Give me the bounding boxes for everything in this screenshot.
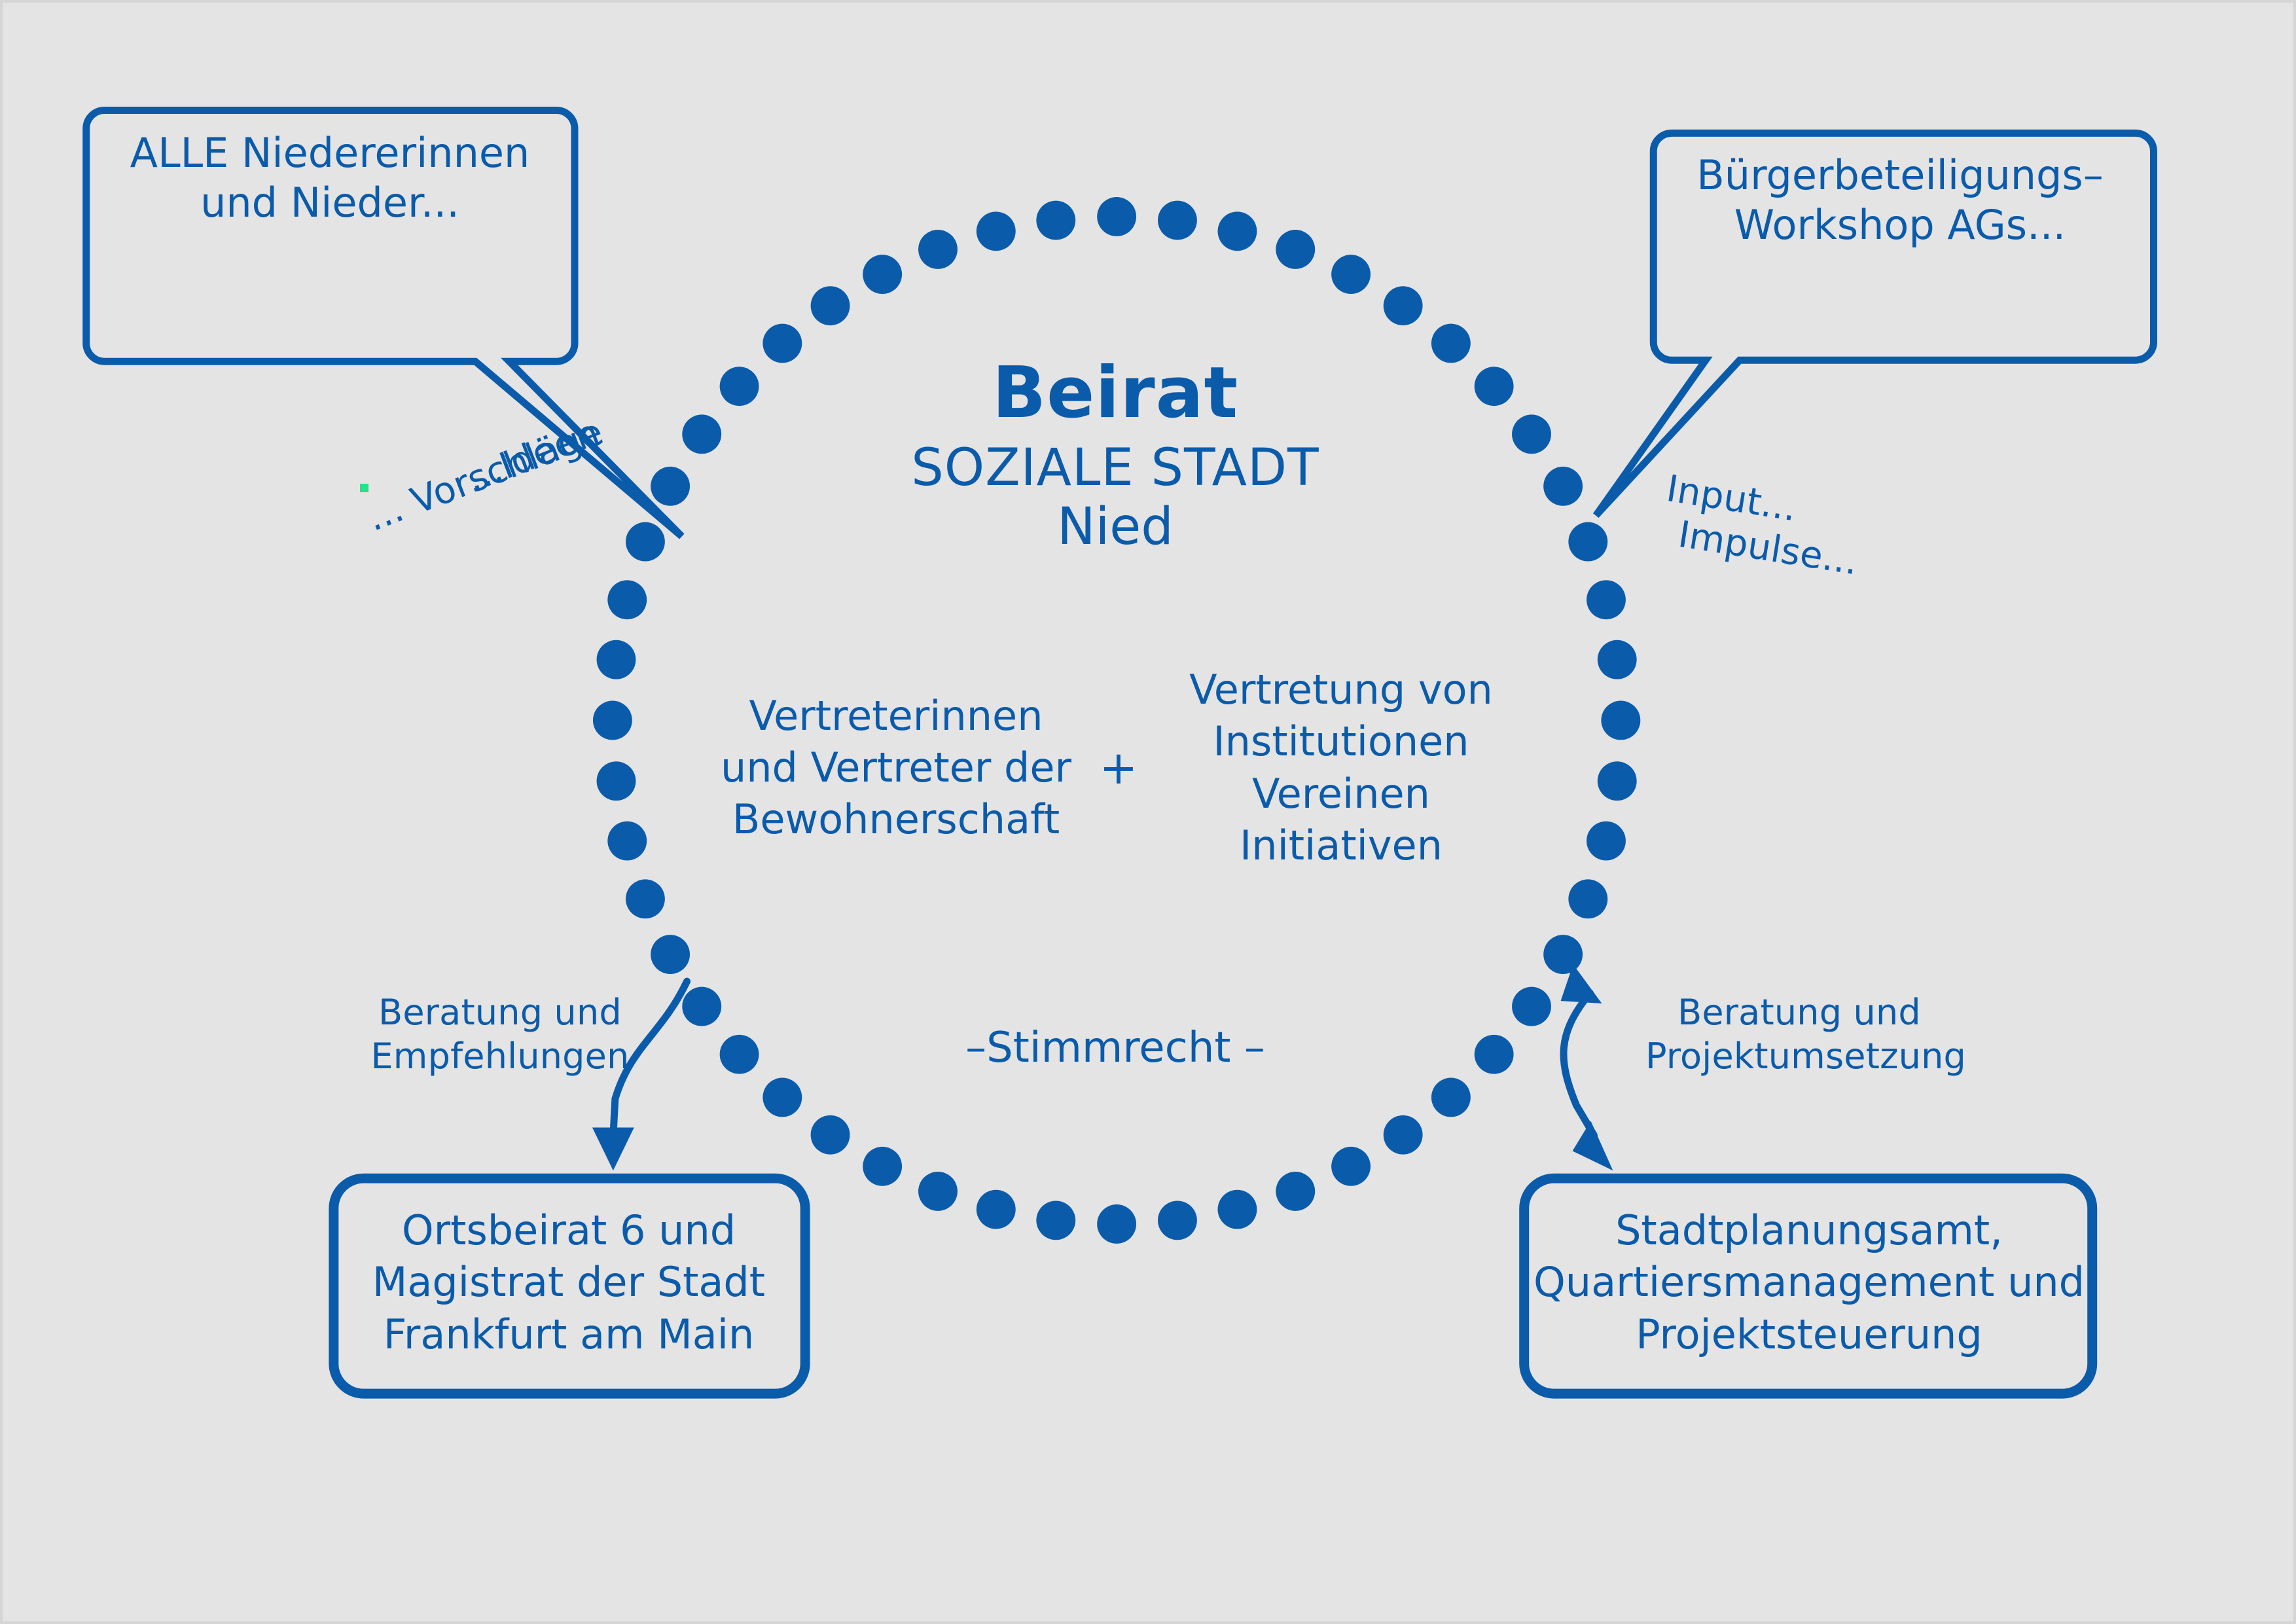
arrow-right-double (1561, 964, 1613, 1170)
ring-dot (762, 1078, 802, 1117)
box-bottom-left-label: Ortsbeirat 6 und Magistrat der Stadt Fra… (336, 1204, 801, 1360)
ring-dot (977, 211, 1016, 251)
title-beirat: Beirat (742, 356, 1488, 430)
ring-dot (1568, 522, 1607, 562)
bubble-top-left-label: ALLE Niedererinnen und Nieder... (88, 128, 572, 228)
box-bottom-right-label: Stadtplanungsamt, Quartiersmanagement un… (1515, 1204, 2104, 1360)
column-bewohnerschaft: Vertreterinnen und Vertreter der Bewohne… (719, 690, 1073, 846)
title-soziale-stadt: SOZIALE STADT (742, 441, 1488, 497)
ring-dot (1218, 1190, 1257, 1229)
ring-dot (1475, 1035, 1514, 1074)
ring-dot (626, 522, 665, 562)
ring-dot (863, 1147, 902, 1186)
ring-dot (682, 987, 721, 1026)
ring-dot (1598, 640, 1637, 679)
ring-dot (1512, 987, 1551, 1026)
ring-dot (1276, 1172, 1315, 1211)
circle-title-group: Beirat SOZIALE STADT Nied (742, 356, 1488, 557)
ring-dot (593, 701, 632, 740)
ring-dot (1587, 821, 1626, 861)
composition-columns: Vertreterinnen und Vertreter der Bewohne… (696, 664, 1541, 871)
ring-dot (1384, 1115, 1423, 1155)
title-nied: Nied (742, 497, 1488, 557)
ring-dot (1036, 201, 1075, 240)
diagram-canvas: ALLE Niedererinnen und Nieder... Bürgerb… (0, 0, 2296, 1624)
stimmrecht-note: –Stimmrecht – (840, 1024, 1390, 1072)
green-marker-dot (360, 484, 368, 492)
label-beratung-empfehlungen: Beratung und Empfehlungen (359, 991, 641, 1079)
ring-dot (1331, 1147, 1371, 1186)
bubble-top-right-label: Bürgerbeteiligungs– Workshop AGs... (1661, 151, 2139, 251)
ring-dot (1568, 879, 1607, 918)
ring-dot (1601, 701, 1640, 740)
ring-dot (607, 580, 647, 619)
ring-dot (1097, 197, 1136, 236)
ring-dot (1218, 211, 1257, 251)
ring-dot (1598, 761, 1637, 801)
plus-operator: + (1073, 745, 1164, 791)
ring-dot (1036, 1200, 1075, 1240)
ring-dot (918, 1172, 958, 1211)
ring-dot (1158, 1200, 1197, 1240)
ring-dot (811, 1115, 850, 1155)
ring-dot (811, 286, 850, 325)
ring-dot (1384, 286, 1423, 325)
ring-dot (651, 467, 690, 506)
ring-dot (1276, 230, 1315, 269)
ring-dot (1331, 255, 1371, 294)
ring-dot (1512, 414, 1551, 454)
ring-dot (977, 1190, 1016, 1229)
ring-dot (1431, 1078, 1471, 1117)
ring-dot (1587, 580, 1626, 619)
column-institutionen: Vertretung von Institutionen Vereinen In… (1164, 664, 1518, 871)
ring-dot (651, 935, 690, 974)
ring-dot (682, 414, 721, 454)
ring-dot (918, 230, 958, 269)
ring-dot (1158, 201, 1197, 240)
ring-dot (597, 640, 636, 679)
ring-dot (597, 761, 636, 801)
label-beratung-projektumsetzung: Beratung und Projektumsetzung (1645, 991, 1953, 1079)
ring-dot (607, 821, 647, 861)
ring-dot (863, 255, 902, 294)
ring-dot (1097, 1204, 1136, 1244)
ring-dot (720, 1035, 759, 1074)
ring-dot (626, 879, 665, 918)
ring-dot (1543, 467, 1583, 506)
ring-dot (1543, 935, 1583, 974)
